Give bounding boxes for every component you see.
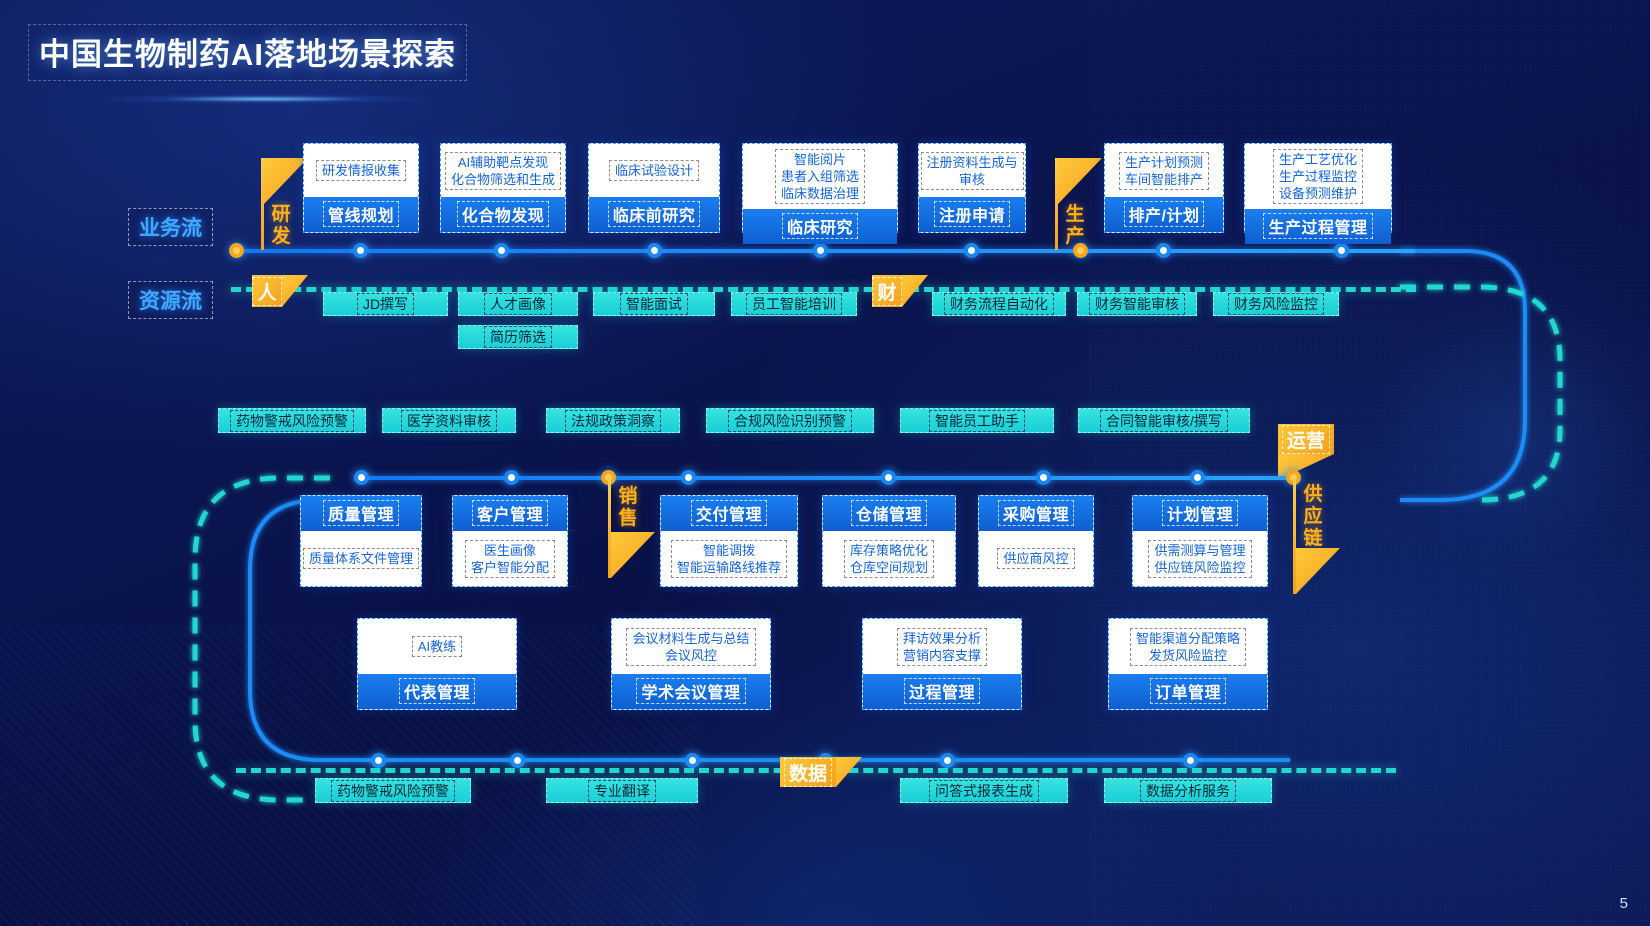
card-body: 供应商风控	[979, 531, 1093, 586]
card-body: 注册资料生成与 审核	[919, 144, 1025, 197]
card-body: 智能渠道分配策略 发货风险监控	[1109, 619, 1267, 674]
card-header: 订单管理	[1109, 674, 1267, 709]
card-body: 智能阅片 患者入组筛选 临床数据治理	[743, 144, 897, 209]
slide-canvas: 中国生物制药AI落地场景探索 业务流 资源流 研发 生产	[0, 0, 1650, 926]
connector-paths	[0, 0, 1650, 926]
flag-pole	[1055, 158, 1058, 250]
flag-pole	[1293, 478, 1296, 594]
supply-node-1	[504, 470, 519, 485]
flow-node-3	[647, 243, 662, 258]
card-items: AI教练	[412, 636, 462, 657]
supply-node-2	[681, 470, 696, 485]
card-items: 临床试验设计	[609, 160, 699, 181]
card-header: 学术会议管理	[612, 674, 770, 709]
card-items: 库存策略优化 仓库空间规划	[844, 540, 934, 578]
card-items: 研发情报收集	[316, 160, 406, 181]
card-header: 质量管理	[301, 496, 421, 531]
resource-pill-people-2[interactable]: 智能面试	[593, 292, 715, 316]
card-items: 拜访效果分析 营销内容支撑	[897, 628, 987, 666]
card-items: 智能阅片 患者入组筛选 临床数据治理	[775, 149, 865, 204]
business-card-3[interactable]: 智能阅片 患者入组筛选 临床数据治理 临床研究	[742, 143, 898, 233]
card-items: 会议材料生成与总结 会议风控	[626, 628, 755, 666]
sales-card-2[interactable]: 拜访效果分析 营销内容支撑 过程管理	[862, 618, 1022, 710]
card-items: 智能调拨 智能运输路线推荐	[671, 540, 787, 578]
card-items: 供应商风控	[997, 548, 1074, 569]
card-items: 注册资料生成与 审核	[921, 152, 1024, 190]
flow-node-7	[1334, 243, 1349, 258]
sales-card-0[interactable]: AI教练 代表管理	[357, 618, 517, 710]
flow-node-4	[813, 243, 828, 258]
page-title: 中国生物制药AI落地场景探索	[28, 24, 467, 81]
flag-data: 数据	[780, 757, 836, 787]
operation-pill-4[interactable]: 智能员工助手	[900, 408, 1054, 433]
supply-chain-line	[355, 476, 1295, 480]
supply-node-5	[1190, 470, 1205, 485]
supply-node-0	[354, 470, 369, 485]
operation-pill-3[interactable]: 合规风险识别预警	[706, 408, 874, 433]
resource-pill-finance-2[interactable]: 财务风险监控	[1213, 292, 1339, 316]
flag-people: 人	[252, 275, 282, 307]
row-label-resource-flow: 资源流	[128, 281, 213, 319]
card-header: 客户管理	[453, 496, 567, 531]
card-body: 拜访效果分析 营销内容支撑	[863, 619, 1021, 674]
card-items: AI辅助靶点发现 化合物筛选和生成	[445, 152, 561, 190]
flag-operation: 运营	[1278, 424, 1334, 454]
resource-pill-people-4[interactable]: 简历筛选	[458, 325, 578, 349]
page-number: 5	[1620, 895, 1628, 912]
flag-banner	[264, 158, 308, 204]
supply-card-3[interactable]: 仓储管理 库存策略优化 仓库空间规划	[822, 495, 956, 587]
data-pill-0[interactable]: 药物警戒风险预警	[315, 778, 471, 803]
resource-pill-people-0[interactable]: JD撰写	[323, 292, 448, 316]
card-header: 管线规划	[304, 197, 418, 232]
card-body: 研发情报收集	[304, 144, 418, 197]
card-body: 会议材料生成与总结 会议风控	[612, 619, 770, 674]
data-pill-3[interactable]: 数据分析服务	[1104, 778, 1272, 803]
card-items: 供需测算与管理 供应链风险监控	[1148, 540, 1251, 578]
card-body: 质量体系文件管理	[301, 531, 421, 586]
supply-card-0[interactable]: 质量管理 质量体系文件管理	[300, 495, 422, 587]
data-pill-1[interactable]: 专业翻译	[546, 778, 698, 803]
card-body: AI辅助靶点发现 化合物筛选和生成	[441, 144, 565, 197]
supply-node-3	[881, 470, 896, 485]
card-header: 生产过程管理	[1245, 209, 1391, 244]
flag-banner	[611, 532, 655, 578]
supply-card-2[interactable]: 交付管理 智能调拨 智能运输路线推荐	[660, 495, 798, 587]
card-header: 过程管理	[863, 674, 1021, 709]
flag-finance: 财	[872, 275, 902, 307]
card-items: 质量体系文件管理	[303, 548, 419, 569]
supply-node-4	[1036, 470, 1051, 485]
business-card-5[interactable]: 生产计划预测 车间智能排产 排产/计划	[1104, 143, 1224, 233]
bottom-node-5	[1183, 753, 1198, 768]
supply-card-5[interactable]: 计划管理 供需测算与管理 供应链风险监控	[1132, 495, 1268, 587]
bottom-node-1	[510, 753, 525, 768]
bottom-node-4	[940, 753, 955, 768]
flag-label-production: 生产	[1063, 204, 1087, 248]
bottom-node-0	[371, 753, 386, 768]
business-card-4[interactable]: 注册资料生成与 审核 注册申请	[918, 143, 1026, 233]
resource-pill-people-1[interactable]: 人才画像	[458, 292, 578, 316]
card-body: 生产计划预测 车间智能排产	[1105, 144, 1223, 197]
row-label-business-flow: 业务流	[128, 208, 213, 246]
supply-card-4[interactable]: 采购管理 供应商风控	[978, 495, 1094, 587]
card-header: 计划管理	[1133, 496, 1267, 531]
card-items: 智能渠道分配策略 发货风险监控	[1130, 628, 1246, 666]
flag-banner	[1296, 548, 1340, 594]
flow-node-1	[353, 243, 368, 258]
card-body: 临床试验设计	[589, 144, 719, 197]
flow-node-2	[494, 243, 509, 258]
business-card-1[interactable]: AI辅助靶点发现 化合物筛选和生成 化合物发现	[440, 143, 566, 233]
card-items: 医生画像 客户智能分配	[465, 540, 555, 578]
card-header: 排产/计划	[1105, 197, 1223, 232]
title-glow-underline	[28, 92, 498, 106]
bottom-node-2	[685, 753, 700, 768]
business-card-0[interactable]: 研发情报收集 管线规划	[303, 143, 419, 233]
flag-label-rd: 研发	[269, 204, 293, 248]
card-header: 化合物发现	[441, 197, 565, 232]
resource-pill-finance-1[interactable]: 财务智能审核	[1077, 292, 1197, 316]
flag-pole	[261, 158, 264, 250]
flow-node-5	[964, 243, 979, 258]
card-header: 临床研究	[743, 209, 897, 244]
card-body: 智能调拨 智能运输路线推荐	[661, 531, 797, 586]
background-texture-left	[0, 626, 700, 926]
card-header: 代表管理	[358, 674, 516, 709]
card-body: 库存策略优化 仓库空间规划	[823, 531, 955, 586]
flag-pole	[608, 478, 611, 578]
flow-node-rd	[229, 243, 244, 258]
card-header: 采购管理	[979, 496, 1093, 531]
flag-label-supply-chain: 供应链	[1301, 484, 1325, 550]
flow-node-6	[1156, 243, 1171, 258]
card-header: 临床前研究	[589, 197, 719, 232]
business-card-6[interactable]: 生产工艺优化 生产过程监控 设备预测维护 生产过程管理	[1244, 143, 1392, 233]
business-card-2[interactable]: 临床试验设计 临床前研究	[588, 143, 720, 233]
supply-card-1[interactable]: 客户管理 医生画像 客户智能分配	[452, 495, 568, 587]
card-body: AI教练	[358, 619, 516, 674]
card-body: 生产工艺优化 生产过程监控 设备预测维护	[1245, 144, 1391, 209]
operation-pill-2[interactable]: 法规政策洞察	[546, 408, 680, 433]
card-header: 注册申请	[919, 197, 1025, 232]
card-items: 生产工艺优化 生产过程监控 设备预测维护	[1273, 149, 1363, 204]
card-items: 生产计划预测 车间智能排产	[1119, 152, 1209, 190]
card-header: 交付管理	[661, 496, 797, 531]
operation-pill-1[interactable]: 医学资料审核	[382, 408, 516, 433]
card-header: 仓储管理	[823, 496, 955, 531]
resource-pill-finance-0[interactable]: 财务流程自动化	[932, 292, 1066, 316]
flag-label-sales: 销售	[616, 486, 640, 530]
sales-card-3[interactable]: 智能渠道分配策略 发货风险监控 订单管理	[1108, 618, 1268, 710]
card-body: 医生画像 客户智能分配	[453, 531, 567, 586]
resource-pill-people-3[interactable]: 员工智能培训	[731, 292, 857, 316]
sales-card-1[interactable]: 会议材料生成与总结 会议风控 学术会议管理	[611, 618, 771, 710]
operation-pill-0[interactable]: 药物警戒风险预警	[218, 408, 366, 433]
flag-banner	[1058, 158, 1102, 204]
data-pill-2[interactable]: 问答式报表生成	[900, 778, 1068, 803]
card-body: 供需测算与管理 供应链风险监控	[1133, 531, 1267, 586]
operation-pill-5[interactable]: 合同智能审核/撰写	[1078, 408, 1250, 433]
